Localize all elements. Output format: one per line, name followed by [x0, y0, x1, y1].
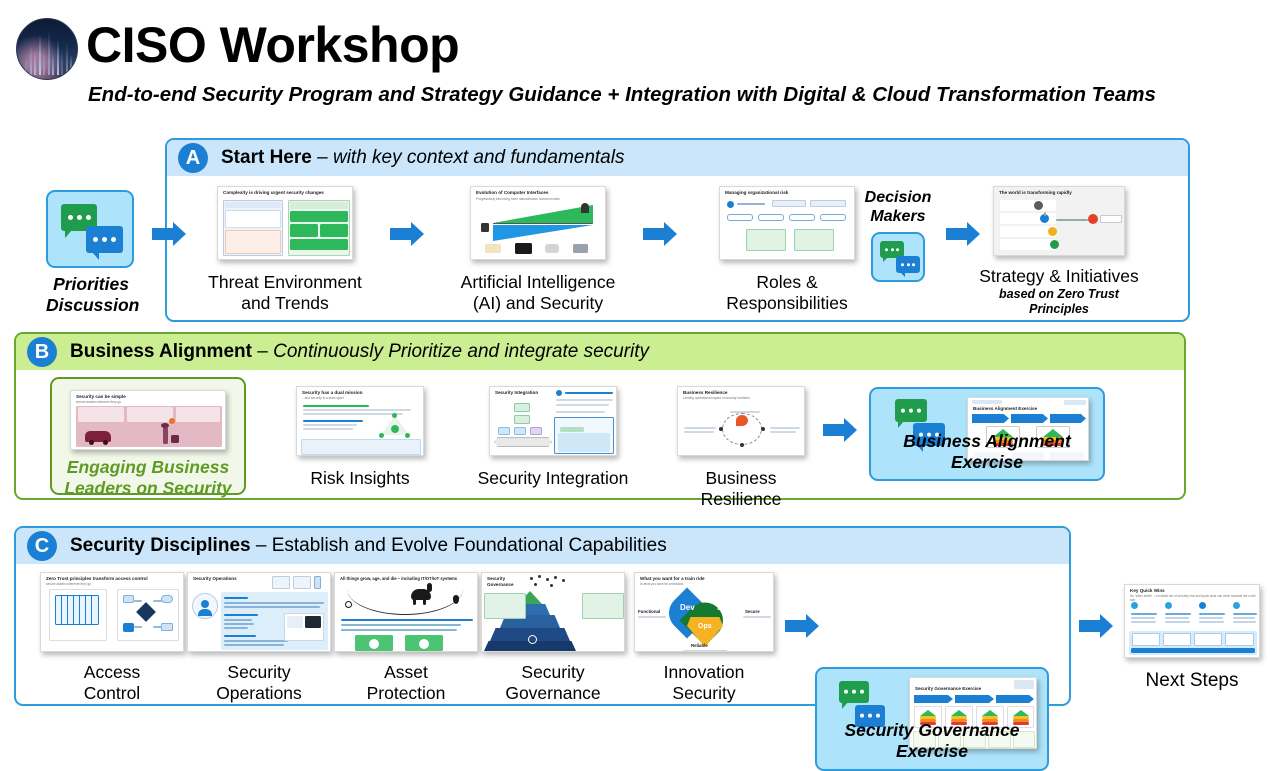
chat-bubble-blue-tail [900, 272, 905, 277]
section-a-dash: – [317, 147, 328, 168]
security-operations-thumbnail: Security Operations [187, 572, 331, 652]
strategy-label: Strategy & Initiatives [978, 266, 1140, 287]
risk-insights-thumbnail: Security has a dual mission ...and secur… [296, 386, 424, 456]
strategy-thumb-title: The world is transforming rapidly [999, 190, 1121, 196]
security-integration-label: Security Integration [477, 468, 629, 489]
section-b-heading: Business Alignment – Continuously Priori… [70, 341, 649, 363]
section-a-badge: A [178, 143, 208, 173]
node-security-integration[interactable]: Security Integration Security Integratio… [477, 386, 629, 489]
node-asset-protection[interactable]: All things grow, age, and die – includin… [332, 572, 480, 704]
next-thumb-subtitle: No 'silver bullet' – a holistic set of s… [1130, 594, 1256, 602]
balign-thumb-title: Business Alignment Exercise [973, 406, 1085, 412]
chat-bubble-green [895, 399, 927, 422]
section-c-subtitle: Establish and Evolve Foundational Capabi… [272, 535, 667, 556]
node-business-alignment-exercise[interactable]: Business Alignment Exercise Business Ali… [869, 387, 1105, 481]
node-innovation-security[interactable]: What you want for a train ride is what y… [633, 572, 775, 704]
page-subtitle: End-to-end Security Program and Strategy… [88, 82, 1156, 108]
ai-label: Artificial Intelligence (AI) and Securit… [458, 272, 618, 314]
section-a-title: Start Here [221, 147, 312, 168]
next-steps-thumbnail: Key Quick Wins No 'silver bullet' – a ho… [1124, 584, 1260, 658]
asset-protection-label: Asset Protection [332, 662, 480, 704]
asset-thumb-title: All things grow, age, and die – includin… [340, 576, 476, 582]
node-engaging-business-leaders[interactable]: Security can be simple secure assets whe… [50, 377, 246, 495]
node-access-control[interactable]: Zero Trust principles transform access c… [38, 572, 186, 704]
node-artificial-intelligence[interactable]: Evolution of Computer Interfaces Progres… [458, 186, 618, 314]
innovation-security-thumbnail: What you want for a train ride is what y… [634, 572, 774, 652]
node-security-governance-exercise[interactable]: Security Governance Exercise Security Go… [815, 667, 1049, 771]
priorities-label: Priorities Discussion [46, 274, 136, 316]
innovation-ops-label: Ops [698, 623, 712, 630]
node-threat-environment[interactable]: Complexity is driving urgent security ch… [205, 186, 365, 314]
innovation-sec-label: Sec [717, 603, 731, 612]
section-a-header: A Start Here – with key context and fund… [167, 140, 1188, 176]
arrow-to-next-steps [1079, 614, 1113, 638]
innovation-reliable-label: Reliable [691, 643, 708, 648]
node-security-governance[interactable]: Security Governance Security Governance [479, 572, 627, 704]
section-a-subtitle: with key context and fundamentals [333, 147, 625, 168]
chat-bubble-blue-tail [92, 252, 99, 260]
arrow-threat-to-ai [390, 222, 424, 246]
security-governance-exercise-label: Security Governance Exercise [817, 720, 1047, 762]
risk-thumb-subtitle: ...and security is a team sport [302, 396, 420, 400]
strategy-thumbnail: The world is transforming rapidly [993, 186, 1125, 256]
roles-thumbnail: Managing organizational risk [719, 186, 855, 260]
threat-thumbnail: Complexity is driving urgent security ch… [217, 186, 353, 260]
node-strategy-initiatives[interactable]: The world is transforming rapidly Strate… [978, 186, 1140, 317]
strategy-sublabel: based on Zero Trust Principles [978, 287, 1140, 317]
chat-bubble-blue [896, 256, 920, 273]
next-steps-label: Next Steps [1118, 670, 1266, 691]
engaging-thumb-subtitle: secure assets wherever they go [76, 400, 222, 404]
innovation-security-label: Innovation Security [633, 662, 775, 704]
chat-bubbles-icon [873, 234, 923, 280]
innov-thumb-subtitle: is what you want for workloads [640, 582, 770, 586]
access-control-label: Access Control [38, 662, 186, 704]
bres-thumb-subtitle: Limiting operational impact of security … [683, 396, 801, 400]
innovation-dev-label: Dev [680, 603, 695, 612]
section-a-heading: Start Here – with key context and fundam… [221, 147, 624, 169]
chat-bubble-blue [86, 226, 123, 253]
business-resilience-thumbnail: Business Resilience Limiting operational… [677, 386, 805, 456]
business-alignment-exercise-label: Business Alignment Exercise [871, 431, 1103, 473]
asset-protection-thumbnail: All things grow, age, and die – includin… [334, 572, 478, 652]
security-operations-label: Security Operations [185, 662, 333, 704]
section-b-dash: – [257, 341, 268, 362]
decision-makers-tile[interactable] [871, 232, 925, 282]
engaging-label: Engaging Business Leaders on Security [52, 457, 244, 499]
secint-thumb-title: Security Integration [495, 390, 557, 396]
chat-bubble-green [839, 681, 869, 703]
ai-thumbnail: Evolution of Computer Interfaces Progres… [470, 186, 606, 260]
access-control-thumbnail: Zero Trust principles transform access c… [40, 572, 184, 652]
node-security-operations[interactable]: Security Operations Security Operations [185, 572, 333, 704]
chat-bubble-green-tail [883, 257, 888, 262]
engaging-thumbnail: Security can be simple secure assets whe… [70, 390, 226, 450]
ai-thumb-title: Evolution of Computer Interfaces [476, 190, 602, 196]
priorities-tile[interactable] [46, 190, 134, 268]
security-governance-label: Security Governance [479, 662, 627, 704]
node-business-resilience[interactable]: Business Resilience Limiting operational… [668, 386, 814, 510]
chat-bubbles-icon [48, 192, 132, 266]
roles-label: Roles & Responsibilities [707, 272, 867, 314]
node-priorities-discussion[interactable]: Priorities Discussion [46, 190, 136, 316]
section-b-subtitle: Continuously Prioritize and integrate se… [273, 341, 649, 362]
arrow-roles-to-strategy [946, 222, 980, 246]
secgovex-thumb-title: Security Governance Exercise [915, 686, 1015, 692]
security-governance-thumbnail: Security Governance [481, 572, 625, 652]
section-b-badge: B [27, 337, 57, 367]
threat-label: Threat Environment and Trends [205, 272, 365, 314]
business-resilience-label: Business Resilience [668, 468, 814, 510]
section-c-title: Security Disciplines [70, 535, 251, 556]
section-c-header: C Security Disciplines – Establish and E… [16, 528, 1069, 564]
arrow-priorities-to-threat [152, 222, 186, 246]
section-b-header: B Business Alignment – Continuously Prio… [16, 334, 1184, 370]
chat-bubble-green-tail [65, 230, 72, 238]
section-c-badge: C [27, 531, 57, 561]
arrow-to-security-governance-exercise [785, 614, 819, 638]
section-c-dash: – [256, 535, 267, 556]
page-title: CISO Workshop [86, 16, 459, 74]
security-integration-thumbnail: Security Integration [489, 386, 617, 456]
access-thumb-subtitle: secure assets wherever they go [46, 582, 180, 586]
arrow-ai-to-roles [643, 222, 677, 246]
risk-insights-label: Risk Insights [285, 468, 435, 489]
arrow-to-business-alignment-exercise [823, 418, 857, 442]
page-header: CISO Workshop End-to-end Security Progra… [0, 0, 1280, 120]
roles-thumb-title: Managing organizational risk [725, 190, 851, 196]
node-decision-makers[interactable]: Decision Makers [856, 188, 940, 282]
secgov-thumb-title: Security Governance [487, 576, 527, 588]
section-c-heading: Security Disciplines – Establish and Evo… [70, 535, 667, 557]
city-skyline-circle-logo [16, 18, 78, 80]
decision-makers-label: Decision Makers [856, 188, 940, 226]
ai-thumb-subtitle: Progressively becoming more natural/nati… [476, 197, 602, 201]
threat-thumb-title: Complexity is driving urgent security ch… [223, 190, 349, 196]
node-risk-insights[interactable]: Security has a dual mission ...and secur… [285, 386, 435, 489]
secops-thumb-title: Security Operations [193, 576, 263, 582]
innovation-functional-label: Functional [638, 609, 660, 614]
node-roles-responsibilities[interactable]: Managing organizational risk Roles & Res… [707, 186, 867, 314]
innovation-secure-label: Secure [745, 609, 760, 614]
section-b-title: Business Alignment [70, 341, 252, 362]
node-next-steps[interactable]: Key Quick Wins No 'silver bullet' – a ho… [1118, 584, 1266, 691]
